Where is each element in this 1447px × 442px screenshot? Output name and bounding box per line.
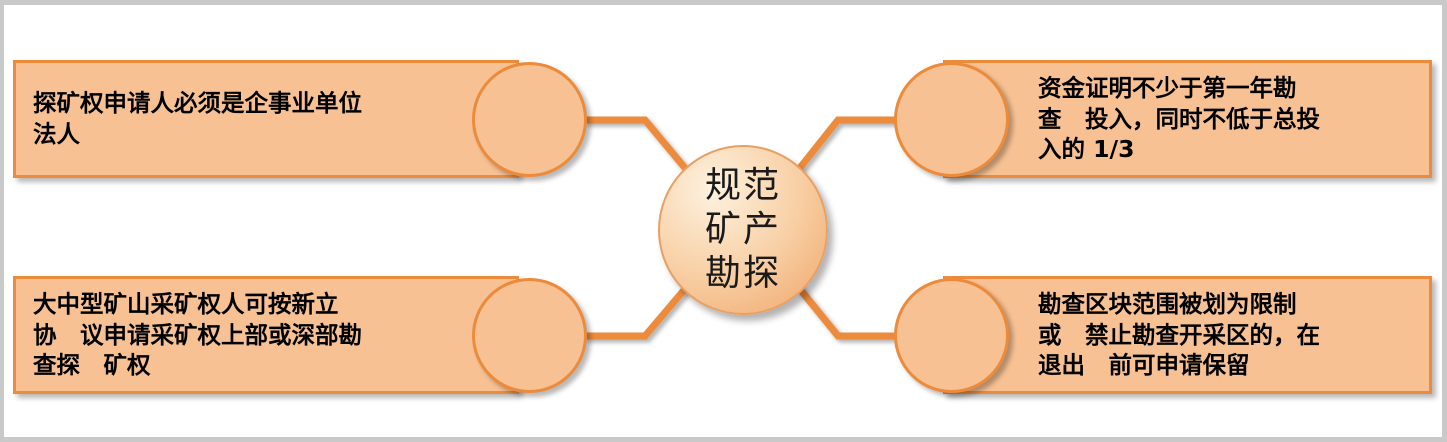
satellite-circle-top-right[interactable]	[894, 62, 1009, 177]
satellite-circle-bottom-left[interactable]	[472, 278, 587, 393]
satellite-circle-top-left[interactable]	[472, 62, 587, 177]
connector-top-right	[795, 120, 897, 174]
connector-bottom-right	[795, 283, 897, 336]
node-text-bottom-left: 大中型矿山采矿权人可按新立 协 议申请采矿权上部或深部勘 查探 矿权	[16, 289, 482, 381]
node-box-top-left[interactable]: 探矿权申请人必须是企事业单位 法人	[13, 60, 519, 178]
center-hub-label: 规范 矿产 勘探	[705, 164, 781, 296]
node-box-bottom-left[interactable]: 大中型矿山采矿权人可按新立 协 议申请采矿权上部或深部勘 查探 矿权	[13, 276, 519, 394]
node-box-bottom-right[interactable]: 勘查区块范围被划为限制 或 禁止勘查开采区的，在 退出 前可申请保留	[943, 276, 1432, 394]
diagram-canvas: 探矿权申请人必须是企事业单位 法人 资金证明不少于第一年勘 查 投入，同时不低于…	[0, 0, 1447, 442]
node-text-top-left: 探矿权申请人必须是企事业单位 法人	[16, 88, 482, 149]
connector-top-left	[584, 120, 690, 174]
center-hub-circle[interactable]: 规范 矿产 勘探	[658, 145, 828, 315]
node-box-top-right[interactable]: 资金证明不少于第一年勘 查 投入，同时不低于总投 入的 1/3	[943, 60, 1432, 178]
satellite-circle-bottom-right[interactable]	[894, 278, 1009, 393]
connector-bottom-left	[584, 283, 690, 336]
